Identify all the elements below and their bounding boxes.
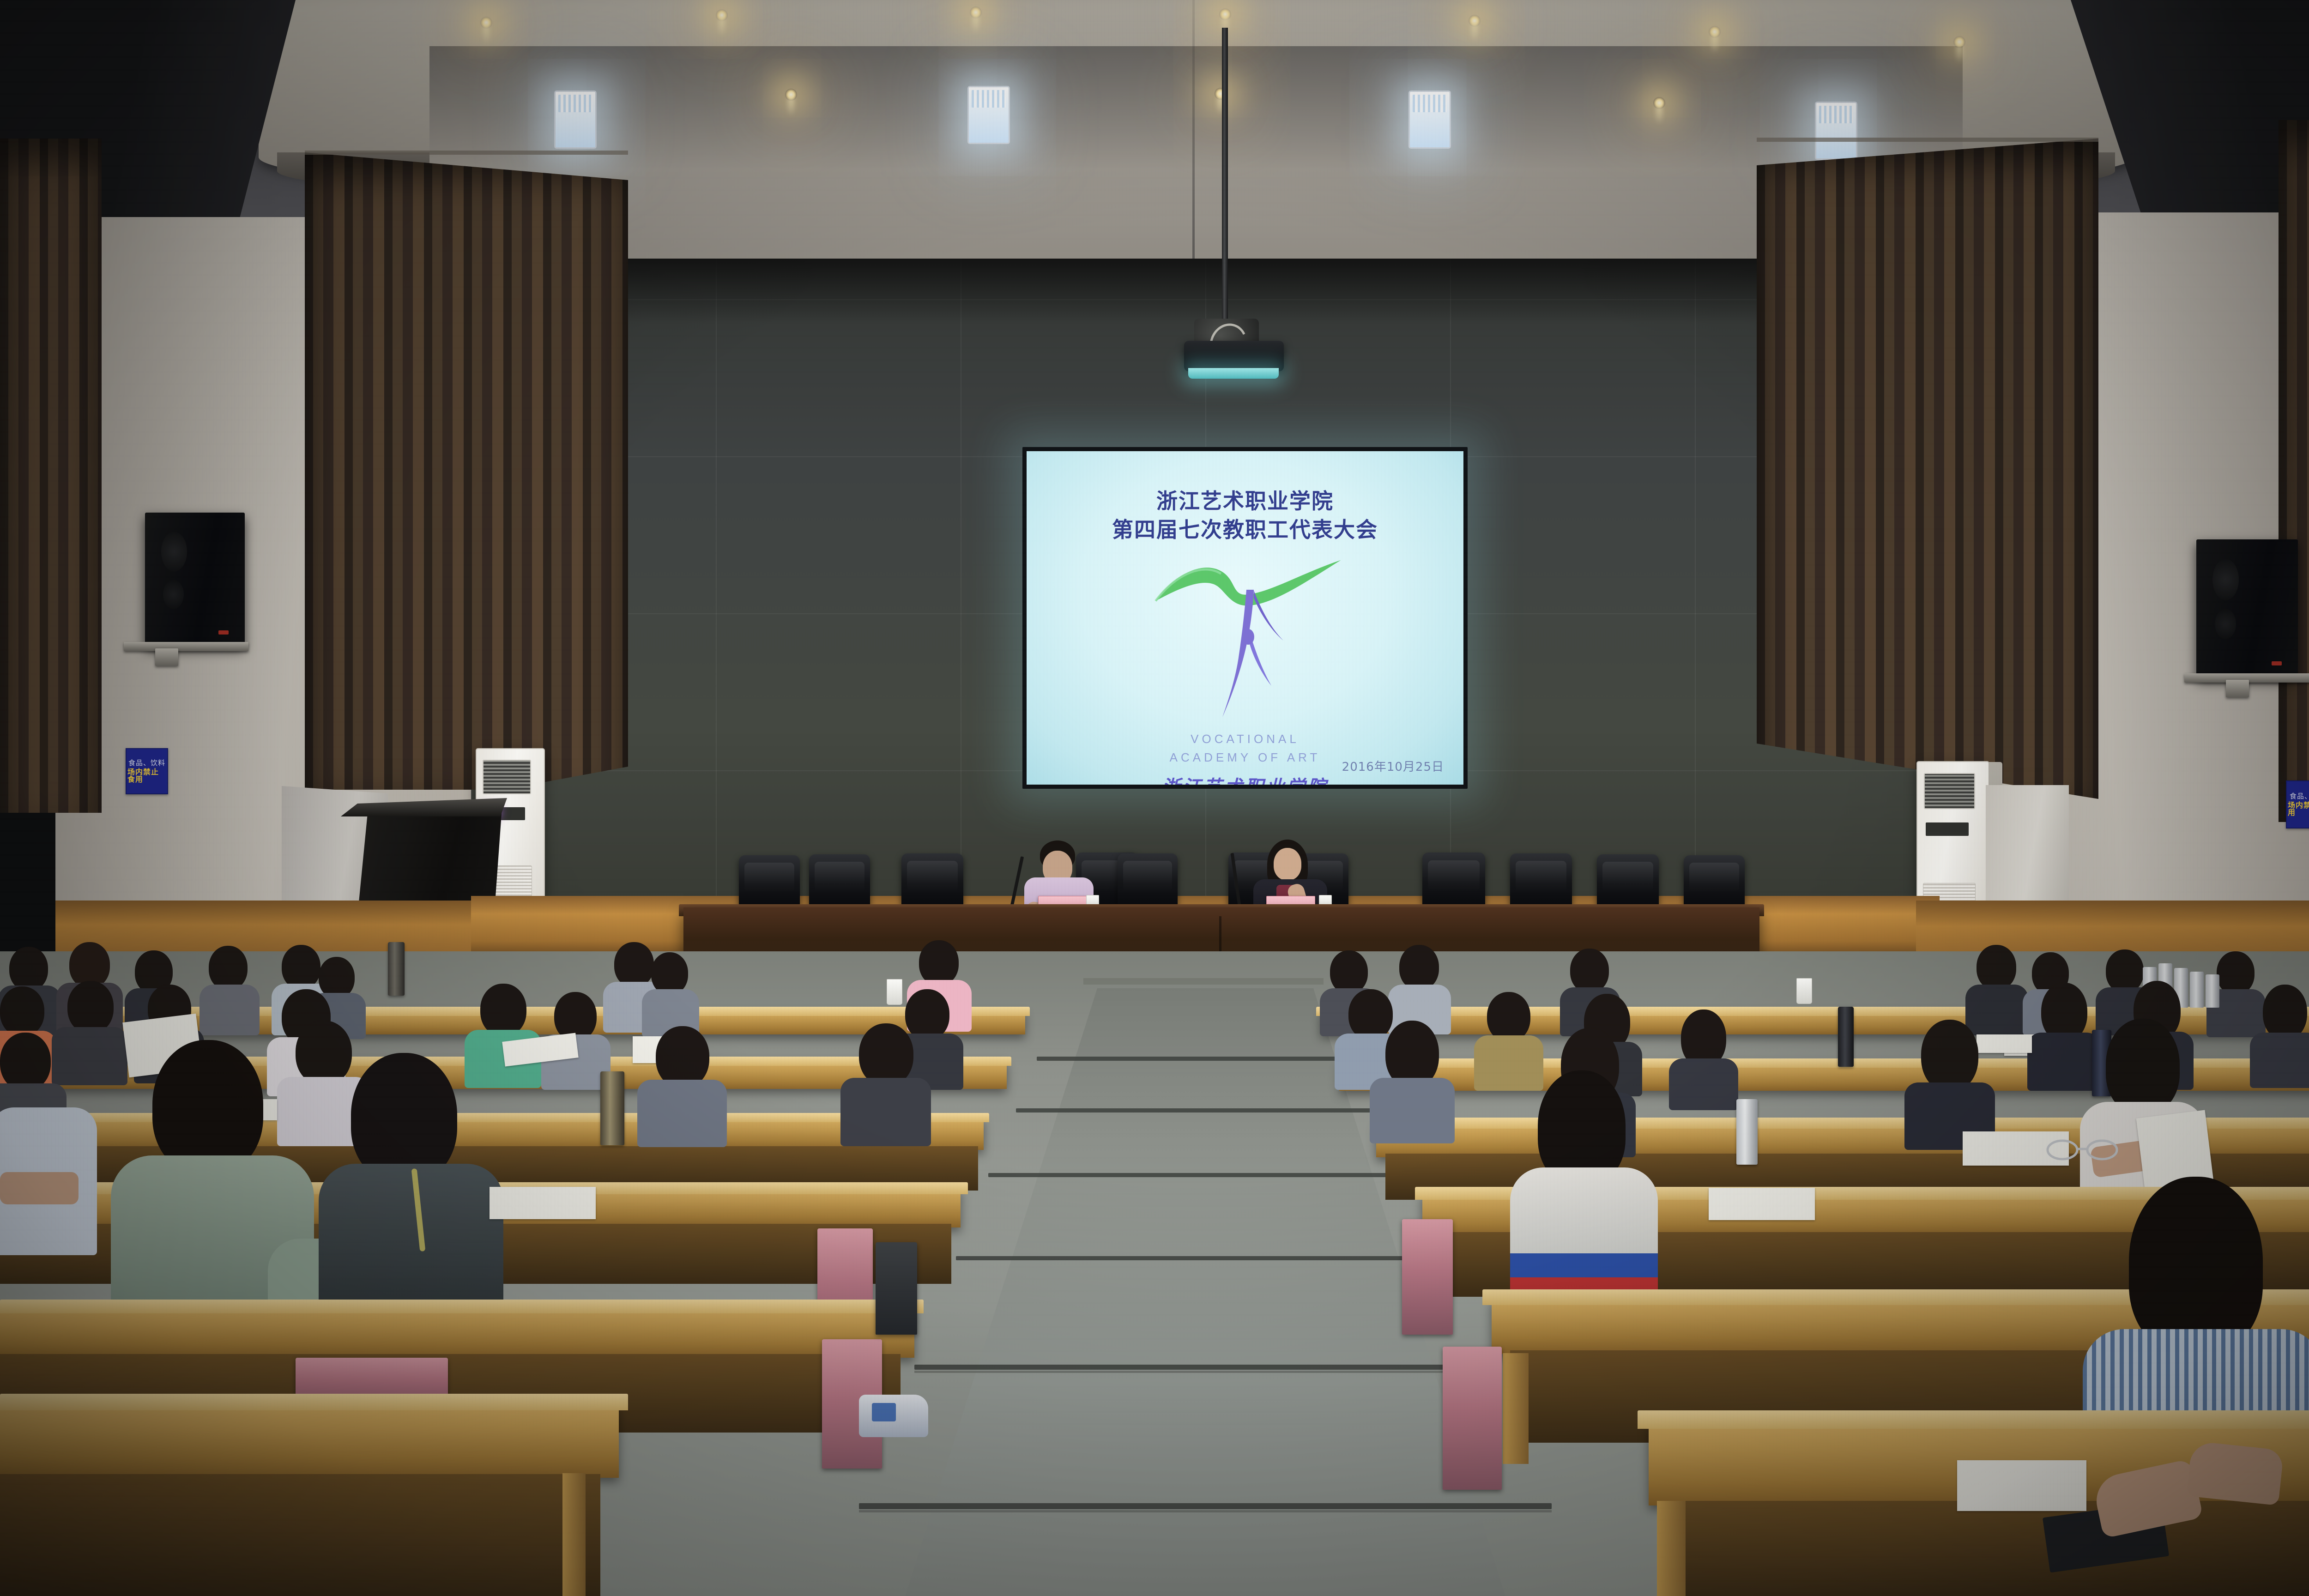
eyeglasses-icon xyxy=(2046,1136,2120,1161)
safety-sign-right: 食品、饮料 场内禁止食用 xyxy=(2286,780,2309,828)
attendee-head xyxy=(1330,950,1368,994)
head-table-chair[interactable] xyxy=(1684,855,1745,907)
aisle-step-highlight xyxy=(859,1510,1552,1512)
attendee-head xyxy=(67,981,114,1034)
ceiling-downlight xyxy=(1953,36,1965,48)
ceiling-downlight xyxy=(1469,15,1481,27)
shoe-logo xyxy=(872,1403,896,1421)
speaker-left xyxy=(145,513,245,647)
ceiling-panel-light xyxy=(967,86,1010,144)
head-table-chair[interactable] xyxy=(1422,852,1485,907)
attendee-head xyxy=(614,942,654,987)
aisle-step xyxy=(988,1173,1422,1177)
attendee-head xyxy=(2106,949,2144,993)
desk-top xyxy=(1638,1410,2309,1429)
desk-underside xyxy=(1681,1501,2309,1596)
slide-date: 2016年10月25日 xyxy=(1342,757,1444,774)
head-table-chair[interactable] xyxy=(1118,853,1178,907)
attendee-head xyxy=(1399,945,1439,990)
attendee-head xyxy=(9,947,48,991)
logo-dancer-figure-icon xyxy=(1202,585,1308,719)
speaker-right xyxy=(2196,539,2298,678)
attendee-head xyxy=(296,1021,352,1085)
attendee-torso xyxy=(199,985,260,1035)
speaker-bracket-left-arm xyxy=(155,648,178,666)
attendee-head xyxy=(2263,985,2307,1040)
dancer-logo xyxy=(1147,557,1350,719)
ceiling-projector xyxy=(1184,341,1284,371)
desk-top xyxy=(0,1394,628,1410)
speaker-tweeter-icon xyxy=(163,580,184,609)
document-sheet xyxy=(1957,1460,2086,1511)
desk-top xyxy=(0,1300,924,1313)
attendee-head xyxy=(209,946,248,990)
desk-row xyxy=(0,1404,619,1478)
attendee-head xyxy=(1487,992,1530,1042)
paper-cup xyxy=(1796,978,1812,1004)
speaker-bracket-right-arm xyxy=(2226,680,2249,697)
curtain-far-left xyxy=(0,139,102,813)
attendee-torso xyxy=(1669,1058,1738,1110)
attendee-jacket-stripe-blue xyxy=(1510,1253,1658,1278)
attendee-head xyxy=(2106,1019,2180,1114)
slide-title: 浙江艺术职业学院 第四届七次教职工代表大会 xyxy=(1027,487,1463,544)
ceiling-panel-light xyxy=(554,91,597,149)
thermos-flask xyxy=(1838,1007,1854,1067)
attendee-torso xyxy=(2027,1033,2100,1091)
back-wall-shadow xyxy=(471,259,1940,323)
safety-sign-left: 食品、饮料 场内禁止食用 xyxy=(126,748,168,794)
paper-cup xyxy=(887,979,902,1005)
aisle-step xyxy=(956,1256,1455,1260)
thermos-flask xyxy=(1736,1099,1758,1165)
attendee-torso xyxy=(840,1078,931,1146)
ac-display-panel xyxy=(1926,822,1968,836)
seat-back[interactable] xyxy=(876,1242,917,1335)
curtain-rod-right xyxy=(1757,138,2098,142)
attendee-head xyxy=(651,952,688,995)
attendee-head xyxy=(656,1026,709,1088)
attendee-torso xyxy=(1370,1078,1455,1143)
aisle-step xyxy=(1037,1057,1376,1061)
speaker-driver-icon xyxy=(2212,559,2239,600)
seat-back[interactable] xyxy=(1402,1219,1453,1335)
desk-leg xyxy=(1503,1353,1529,1464)
safety-sign-line2: 场内禁止食用 xyxy=(2288,802,2309,816)
projector-mount-pole xyxy=(1222,28,1228,328)
attendee-torso xyxy=(52,1027,127,1085)
desk-underside xyxy=(0,1474,600,1596)
ac-vent-icon xyxy=(1924,773,1975,809)
attendee-head xyxy=(282,945,320,989)
aisle-step xyxy=(1016,1108,1395,1112)
ceiling-downlight xyxy=(716,9,728,21)
curtain-right xyxy=(1757,139,2098,799)
head-table-chair[interactable] xyxy=(1597,854,1659,907)
document-sheet xyxy=(1709,1188,1815,1220)
curtain-left xyxy=(305,152,628,790)
safety-sign-line2: 场内禁止食用 xyxy=(127,768,166,783)
attendee-head xyxy=(1570,949,1609,993)
document-sheet xyxy=(490,1187,596,1219)
head-table-chair[interactable] xyxy=(809,854,870,907)
slide-title-line1: 浙江艺术职业学院 xyxy=(1027,487,1463,516)
attendee-torso xyxy=(2250,1033,2309,1088)
safety-sign-line1: 食品、饮料 xyxy=(128,760,165,767)
projection-screen: 浙江艺术职业学院 第四届七次教职工代表大会 VOCATIONAL ACADEMY… xyxy=(1027,451,1463,785)
attendee-head xyxy=(905,989,949,1040)
stage-step-rail xyxy=(1083,978,1324,985)
desk-leg xyxy=(1657,1501,1686,1596)
ceiling-downlight xyxy=(480,17,492,29)
attendee-head xyxy=(859,1023,913,1086)
speaker-logo xyxy=(2272,661,2282,665)
ceiling-downlight xyxy=(785,89,797,101)
attendee-torso xyxy=(1474,1035,1543,1091)
head-table-chair[interactable] xyxy=(1510,853,1572,907)
water-bottle xyxy=(2190,972,2204,1008)
attendee-head xyxy=(1921,1020,1978,1092)
speaker-logo xyxy=(218,630,229,635)
ceiling-downlight xyxy=(1219,8,1231,20)
presenter-head xyxy=(1274,848,1301,880)
attendee-head xyxy=(480,984,526,1036)
attendee-torso xyxy=(637,1080,727,1147)
ceiling-panel-light xyxy=(1408,91,1451,149)
attendee-head xyxy=(152,1040,263,1174)
auditorium-scene: 浙江艺术职业学院 第四届七次教职工代表大会 VOCATIONAL ACADEMY… xyxy=(0,0,2309,1596)
speaker-driver-icon xyxy=(161,532,187,572)
safety-sign-line1: 食品、饮料 xyxy=(2290,793,2309,800)
speaker-bracket-left xyxy=(124,642,248,651)
slide-english-line1: VOCATIONAL xyxy=(1027,732,1463,746)
ceiling-downlight xyxy=(1709,26,1721,38)
attendee-head xyxy=(0,1033,51,1091)
attendee-head xyxy=(351,1053,457,1182)
attendee-head xyxy=(2129,1177,2263,1352)
projection-screen-frame: 浙江艺术职业学院 第四届七次教职工代表大会 VOCATIONAL ACADEMY… xyxy=(1022,447,1468,789)
attendee-head xyxy=(1348,989,1393,1040)
seat-back[interactable] xyxy=(1443,1347,1502,1490)
speaker-tweeter-icon xyxy=(2215,609,2236,639)
curtain-rod-left xyxy=(305,151,628,155)
thermos-flask xyxy=(388,942,405,996)
attendee-head xyxy=(919,940,959,985)
attendee-head xyxy=(2217,951,2255,995)
attendee-head xyxy=(0,986,44,1036)
slide-title-line2: 第四届七次教职工代表大会 xyxy=(1027,516,1463,544)
attendee-head xyxy=(319,957,355,998)
head-table-chair[interactable] xyxy=(901,853,963,907)
attendee-head xyxy=(1977,945,2016,990)
ac-vent-icon xyxy=(483,760,531,794)
desk-row xyxy=(0,1118,984,1150)
attendee-arm xyxy=(0,1172,79,1204)
attendee-torso xyxy=(1965,985,2028,1035)
attendee-hand xyxy=(2186,1441,2284,1505)
head-table-chair[interactable] xyxy=(739,855,800,907)
desk-row xyxy=(0,1307,914,1358)
water-bottle xyxy=(2206,974,2219,1008)
ceiling-downlight xyxy=(1653,97,1665,109)
desk-leg xyxy=(562,1473,586,1596)
ceiling-panel-light xyxy=(1815,102,1857,160)
attendee-torso xyxy=(1510,1167,1658,1260)
document-sheet xyxy=(1977,1034,2032,1053)
aisle-step xyxy=(914,1365,1496,1370)
projector-lens-glow xyxy=(1188,368,1279,379)
aisle-step-highlight xyxy=(914,1371,1496,1373)
ceiling-downlight xyxy=(970,6,982,18)
thermos-flask xyxy=(600,1071,624,1145)
aisle-step xyxy=(859,1503,1552,1509)
curtain-far-right xyxy=(2279,120,2309,822)
